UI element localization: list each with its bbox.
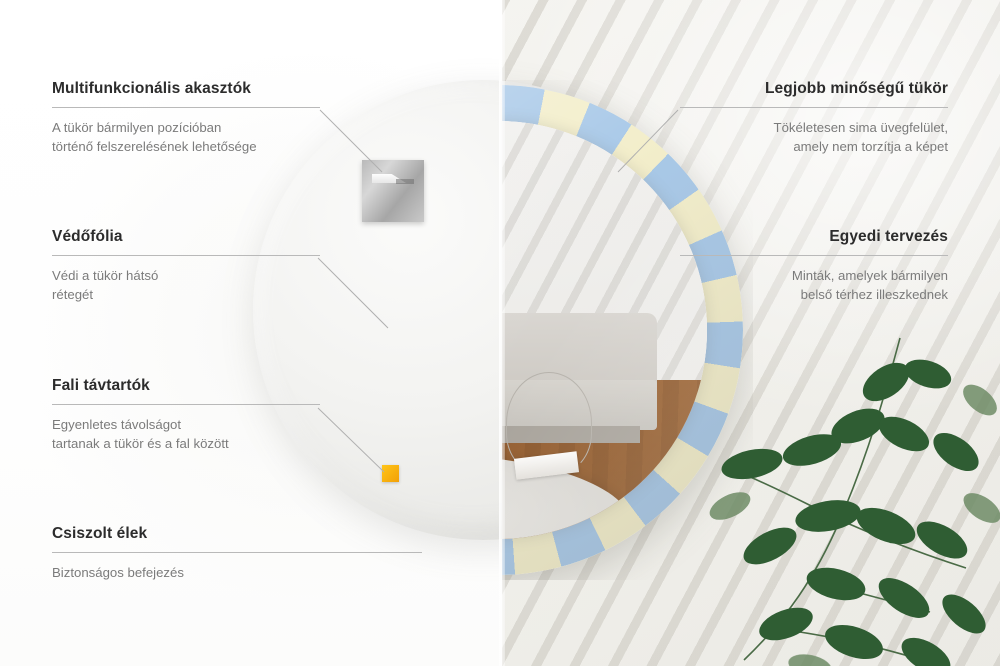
callout-body: Biztonságos befejezés [52,564,422,583]
panel-seam [499,0,505,666]
infographic-canvas: Multifunkcionális akasztók A tükör bármi… [0,0,1000,666]
callout-rule [52,107,320,108]
callout-title: Fali távtartók [52,377,320,395]
foliage-decoration [690,330,1000,666]
callout-multifunction-hooks: Multifunkcionális akasztók A tükör bármi… [52,80,320,156]
callout-body: A tükör bármilyen pozícióban történő fel… [52,119,320,156]
callout-polished-edges: Csiszolt élek Biztonságos befejezés [52,525,422,583]
leaf-branches-icon [690,330,1000,666]
callout-body: Minták, amelyek bármilyen belső térhez i… [680,267,948,304]
hanger-slot-shadow [396,179,414,184]
callout-title: Multifunkcionális akasztók [52,80,320,98]
callout-rule [52,255,320,256]
callout-best-quality-mirror: Legjobb minőségű tükör Tökéletesen sima … [680,80,948,156]
callout-body: Tökéletesen sima üvegfelület, amely nem … [680,119,948,156]
callout-unique-design: Egyedi tervezés Minták, amelyek bármilye… [680,228,948,304]
callout-protective-film: Védőfólia Védi a tükör hátsó rétegét [52,228,320,304]
callout-rule [52,404,320,405]
hanger-bracket [362,160,424,222]
callout-title: Csiszolt élek [52,525,422,543]
callout-body: Egyenletes távolságot tartanak a tükör é… [52,416,320,453]
callout-title: Egyedi tervezés [680,228,948,246]
callout-wall-spacers: Fali távtartók Egyenletes távolságot tar… [52,377,320,453]
callout-rule [680,255,948,256]
yellow-spacer [382,465,399,482]
callout-body: Védi a tükör hátsó rétegét [52,267,320,304]
callout-rule [680,107,948,108]
mirror-glass [502,121,707,539]
callout-rule [52,552,422,553]
callout-title: Legjobb minőségű tükör [680,80,948,98]
callout-title: Védőfólia [52,228,320,246]
